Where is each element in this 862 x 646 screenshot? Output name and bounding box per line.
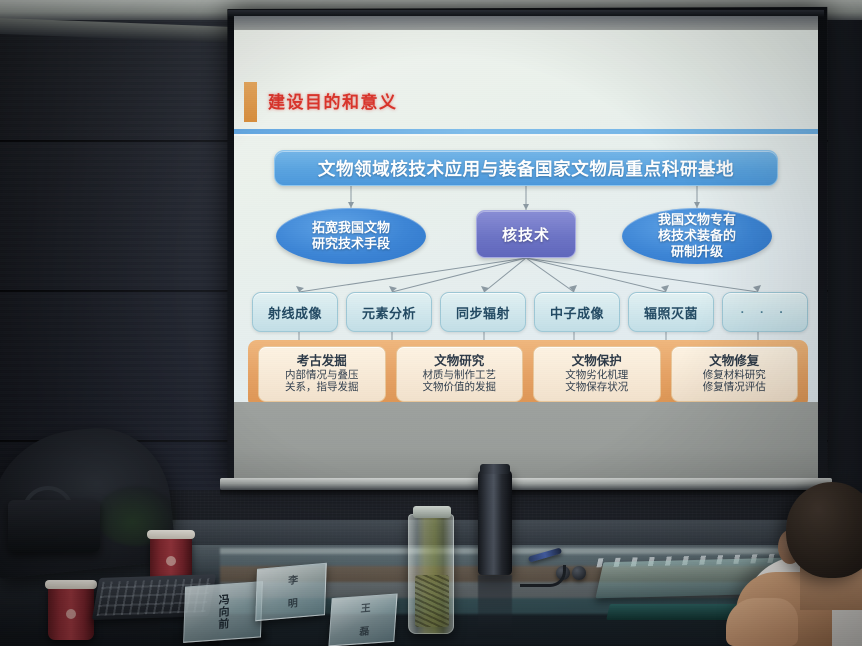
technique-label: 元素分析 xyxy=(362,303,416,322)
core-label: 核技术 xyxy=(502,224,550,245)
placard-name: 王 磊 xyxy=(355,602,372,638)
technique-item: 射线成像 xyxy=(252,292,338,332)
goal-node-right: 我国文物专有 核技术装备的 研制升级 xyxy=(622,208,772,264)
attendee-head xyxy=(786,482,862,578)
diagram: 文物领域核技术应用与装备国家文物局重点科研基地 拓宽我国文物 研究技术手段 核技… xyxy=(234,30,818,402)
base-title-banner: 文物领域核技术应用与装备国家文物局重点科研基地 xyxy=(274,150,778,186)
goal-right-line3: 研制升级 xyxy=(671,244,723,259)
technique-label: 射线成像 xyxy=(268,303,322,322)
technique-row: 射线成像 元素分析 同步辐射 中子成像 辐照灭菌 · · · xyxy=(252,292,808,332)
application-line1: 内部情况与叠压 xyxy=(285,369,359,381)
slide-letterbox-bottom xyxy=(234,402,818,478)
name-placard: 李 明 xyxy=(255,563,327,621)
goal-left-line2: 研究技术手段 xyxy=(312,236,390,251)
goal-right-line1: 我国文物专有 xyxy=(658,212,736,227)
thermos-reflection xyxy=(478,575,512,637)
application-line1: 修复材料研究 xyxy=(703,369,766,381)
technique-item: 辐照灭菌 xyxy=(628,292,714,332)
small-knob xyxy=(572,566,586,580)
attendee-hand xyxy=(726,598,798,646)
conference-room-scene: 建设目的和意义 xyxy=(0,0,862,646)
application-card: 文物研究 材质与制作工艺 文物价值的发掘 xyxy=(396,346,524,402)
goal-right-line2: 核技术装备的 xyxy=(658,228,736,243)
application-line2: 关系，指导发掘 xyxy=(285,381,359,393)
application-line2: 文物价值的发掘 xyxy=(423,381,497,393)
cable xyxy=(520,565,566,587)
application-line2: 修复情况评估 xyxy=(703,381,766,393)
cup-logo xyxy=(66,609,76,619)
technique-label: 辐照灭菌 xyxy=(644,303,698,322)
core-technology-node: 核技术 xyxy=(476,210,576,258)
screen-bottom-shadow xyxy=(220,490,832,497)
cup-logo xyxy=(166,556,176,566)
tea-leaves xyxy=(415,575,449,627)
technique-item: 中子成像 xyxy=(534,292,620,332)
screen-surface: 建设目的和意义 xyxy=(234,16,818,478)
application-title: 文物研究 xyxy=(434,354,484,368)
technique-label: 同步辐射 xyxy=(456,303,510,322)
projection-screen: 建设目的和意义 xyxy=(226,8,826,486)
application-title: 文物修复 xyxy=(709,354,759,368)
thermos-bottle xyxy=(478,470,512,575)
application-line2: 文物保存状况 xyxy=(565,381,628,393)
slide: 建设目的和意义 xyxy=(234,30,818,402)
application-card: 考古发掘 内部情况与叠压 关系，指导发掘 xyxy=(258,346,386,402)
name-placard: 王 磊 xyxy=(328,594,397,646)
application-card: 文物修复 修复材料研究 修复情况评估 xyxy=(671,346,799,402)
application-line1: 材质与制作工艺 xyxy=(423,369,497,381)
bag xyxy=(8,500,100,552)
glass-tea-jar xyxy=(408,514,454,634)
application-line1: 文物劣化机理 xyxy=(565,369,628,381)
goal-left-line1: 拓宽我国文物 xyxy=(312,220,390,235)
application-row: 考古发掘 内部情况与叠压 关系，指导发掘 文物研究 材质与制作工艺 文物价值的发… xyxy=(258,346,798,402)
placard-name: 李 明 xyxy=(283,574,299,610)
application-title: 考古发掘 xyxy=(297,354,347,368)
name-placard: 冯向前 xyxy=(183,581,263,643)
placard-name: 冯向前 xyxy=(215,593,232,631)
goal-left-label: 拓宽我国文物 研究技术手段 xyxy=(312,220,390,253)
technique-label: · · · xyxy=(741,305,790,319)
slide-letterbox-top xyxy=(234,16,818,30)
application-card: 文物保护 文物劣化机理 文物保存状况 xyxy=(533,346,661,402)
technique-item: 同步辐射 xyxy=(440,292,526,332)
base-title-label: 文物领域核技术应用与装备国家文物局重点科研基地 xyxy=(318,156,734,181)
application-title: 文物保护 xyxy=(572,354,622,368)
goal-node-left: 拓宽我国文物 研究技术手段 xyxy=(276,208,426,264)
technique-label: 中子成像 xyxy=(550,303,604,322)
screen-bottom-rail xyxy=(220,478,832,490)
technique-item-ellipsis: · · · xyxy=(722,292,808,332)
paper-cup-left xyxy=(48,586,94,640)
goal-right-label: 我国文物专有 核技术装备的 研制升级 xyxy=(658,212,736,261)
technique-item: 元素分析 xyxy=(346,292,432,332)
